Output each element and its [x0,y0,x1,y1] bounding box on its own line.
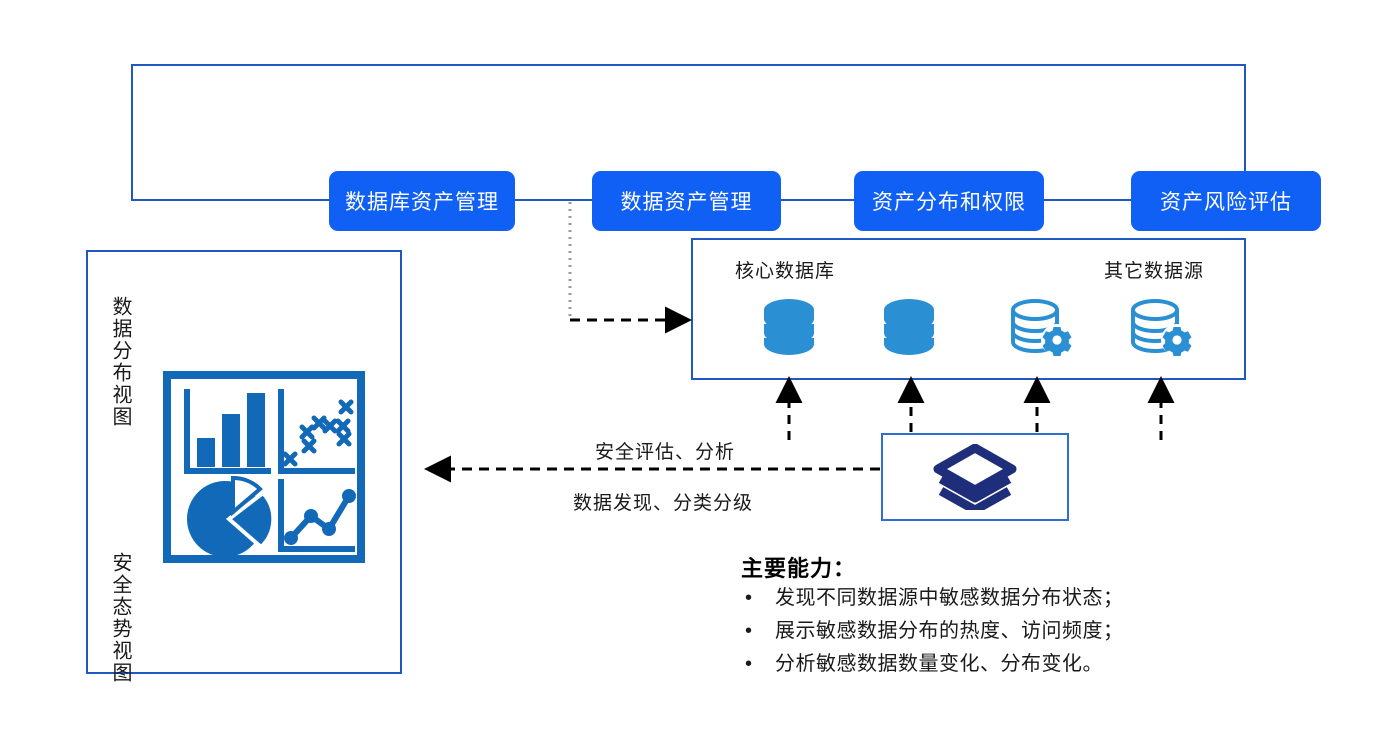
capabilities-list-item: • 展示敏感数据分布的热度、访问频度； [745,621,1165,641]
capabilities-list-item: • 发现不同数据源中敏感数据分布状态； [745,588,1165,608]
flow-label-data-discovery: 数据发现、分类分级 [573,488,753,515]
vertical-label-data-distribution-view: 数据分布视图 [103,296,133,428]
bullet-icon: • [745,588,775,608]
bullet-icon: • [745,621,775,641]
stacked-layers-icon [932,444,1018,510]
capabilities-item-text: 发现不同数据源中敏感数据分布状态； [775,588,1124,608]
database-solid-icon[interactable] [753,296,825,358]
capability-button-asset-distribution-permission[interactable]: 资产分布和权限 [854,171,1044,231]
database-gear-outline-icon[interactable] [1005,296,1077,358]
capabilities-item-text: 展示敏感数据分布的热度、访问频度； [775,621,1124,641]
analytics-dashboard-icon [163,371,365,563]
database-gear-outline-icon[interactable] [1125,296,1197,358]
db-panel-title-core: 核心数据库 [735,256,835,283]
capability-panel: 数据库资产管理 数据资产管理 资产分布和权限 资产风险评估 [131,64,1246,201]
capability-button-database-asset-management[interactable]: 数据库资产管理 [329,171,515,231]
pie-chart-icon [187,478,273,557]
line-chart-icon [281,479,356,549]
diagram-canvas: 数据库资产管理 数据资产管理 资产分布和权限 资产风险评估 数据分布视图 安全态… [0,0,1396,736]
flow-label-security-assessment: 安全评估、分析 [595,437,735,464]
database-solid-icon[interactable] [873,296,945,358]
capabilities-list: • 发现不同数据源中敏感数据分布状态； • 展示敏感数据分布的热度、访问频度； … [745,588,1165,687]
capabilities-heading: 主要能力： [741,551,856,583]
db-panel-title-other: 其它数据源 [1104,256,1204,283]
capability-button-asset-risk-assessment[interactable]: 资产风险评估 [1131,171,1321,231]
capabilities-list-item: • 分析敏感数据数量变化、分布变化。 [745,654,1165,674]
capability-button-data-asset-management[interactable]: 数据资产管理 [592,171,781,231]
capabilities-item-text: 分析敏感数据数量变化、分布变化。 [775,654,1103,674]
bullet-icon: • [745,654,775,674]
bar-chart-icon [187,389,271,471]
vertical-label-security-posture-view: 安全态势视图 [103,552,133,684]
scatter-plot-icon [281,389,355,471]
